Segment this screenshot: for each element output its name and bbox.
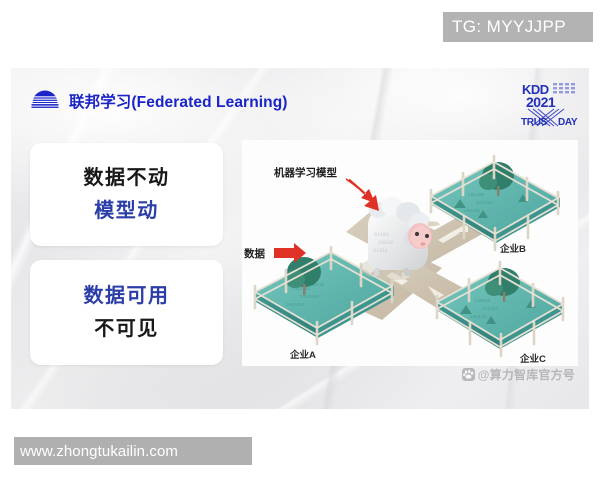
concept-card-data-immobile: 数据不动 模型动 [30, 143, 223, 246]
svg-text:数据: 数据 [243, 247, 265, 260]
page-title: 联邦学习(Federated Learning) [69, 90, 288, 112]
svg-text:110010: 110010 [474, 298, 491, 304]
svg-text:01011: 01011 [373, 248, 388, 254]
svg-text:0110100: 0110100 [300, 294, 319, 300]
enterprise-a-label: 企业A [289, 349, 316, 361]
svg-text:DAY: DAY [558, 117, 578, 128]
rising-sun-logo-icon [30, 86, 60, 116]
enterprise-c-label: 企业C [519, 353, 546, 365]
concept-card-data-usable: 数据可用 不可见 [30, 260, 223, 365]
enterprise-b-label: 企业B [499, 243, 526, 255]
card-line-primary: 数据不动 [84, 167, 170, 189]
slide-header: 联邦学习(Federated Learning) [30, 86, 288, 116]
kdd-conference-logo: KDD 2021 TRUS DAY [520, 79, 580, 129]
svg-text:011101: 011101 [482, 306, 499, 312]
svg-text:2021: 2021 [526, 94, 556, 110]
federated-learning-illustration: 10110010110100 1001011010110 [242, 140, 578, 366]
url-watermark-bar: www.zhongtukailin.com [14, 437, 252, 465]
baidu-account-watermark: @算力智库官方号 [462, 366, 575, 383]
svg-text:011010: 011010 [476, 200, 493, 206]
card-line-secondary: 模型动 [94, 200, 159, 222]
svg-text:TRUS: TRUS [521, 117, 548, 128]
svg-text:机器学习模型: 机器学习模型 [274, 166, 337, 179]
svg-text:01101: 01101 [374, 232, 389, 238]
card-line-primary: 数据可用 [84, 285, 170, 307]
card-line-secondary: 不可见 [94, 318, 159, 340]
baidu-paw-icon [462, 368, 475, 381]
svg-text:101100: 101100 [468, 192, 485, 198]
presentation-slide: 联邦学习(Federated Learning) KDD 2021 TRUS D… [11, 68, 589, 409]
svg-text:1001011: 1001011 [286, 302, 305, 308]
baidu-handle-text: @算力智库官方号 [478, 366, 575, 383]
svg-text:10010: 10010 [378, 240, 393, 246]
tg-watermark-badge: TG: MYYJJPP [443, 12, 593, 42]
svg-text:100110: 100110 [470, 314, 487, 320]
screenshot-root: TG: MYYJJPP 联邦学习(Federated Learning) [0, 0, 600, 480]
svg-text:100101: 100101 [464, 208, 481, 214]
